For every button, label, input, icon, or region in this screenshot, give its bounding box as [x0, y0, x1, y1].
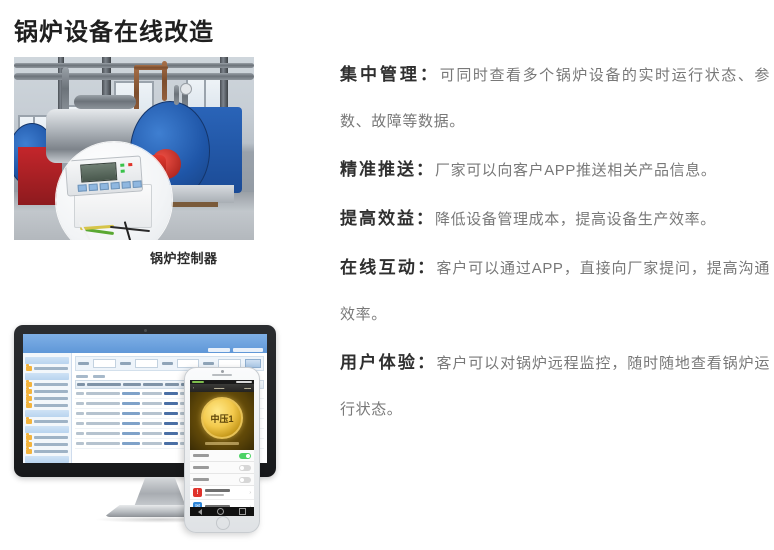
cell [122, 402, 140, 405]
app-nav-bar: ‹ ▬▬▬ ▬▬ [190, 384, 254, 392]
cell [142, 442, 162, 445]
product-feature-page: 锅炉设备在线改造 [0, 0, 774, 535]
back-icon[interactable]: ‹ [193, 386, 194, 390]
toolbar-action[interactable] [93, 375, 105, 378]
cell [122, 412, 140, 415]
settings-icon[interactable]: ▬▬ [244, 386, 251, 390]
filter-label [120, 362, 131, 365]
sidebar-item [26, 449, 68, 454]
cell [164, 432, 178, 435]
sidebar-item [26, 435, 68, 440]
monitor-and-phone-mockup: ‹ ▬▬▬ ▬▬ 中压1 [0, 320, 320, 550]
feature-item: 在线互动：客户可以通过APP，直接向厂家提问，提高沟通效率。 [340, 245, 770, 338]
battery-icon [236, 381, 252, 383]
sidebar-item [26, 419, 68, 424]
photo-caption: 锅炉控制器 [150, 248, 218, 267]
column-header [77, 383, 85, 386]
cell [142, 392, 162, 395]
column-header [87, 383, 121, 386]
media-column: 锅炉控制器 [0, 52, 320, 535]
sidebar-group-header [25, 357, 69, 364]
toggle-label [193, 478, 209, 481]
phone-screen: ‹ ▬▬▬ ▬▬ 中压1 [190, 380, 254, 516]
sidebar-group-header [25, 410, 69, 417]
boiler-skid-base [164, 185, 234, 203]
signal-icon [192, 381, 204, 383]
sidebar-item-label [34, 443, 68, 446]
cell [142, 432, 162, 435]
cell [86, 442, 120, 445]
list-item-title [205, 489, 230, 492]
cell [76, 432, 84, 435]
keypad-button [100, 183, 109, 191]
toolbar-action[interactable] [76, 375, 88, 378]
status-led-green [121, 170, 125, 173]
feature-item: 用户体验：客户可以对锅炉远程监控，随时随地查看锅炉运行状态。 [340, 340, 770, 433]
cell [86, 402, 120, 405]
device-badge: 中压1 [201, 397, 243, 439]
toggle-label [193, 454, 209, 457]
cell [122, 442, 140, 445]
cell [76, 442, 84, 445]
sidebar-item [26, 366, 68, 371]
nav-recents-icon[interactable] [239, 508, 246, 515]
filter-label [162, 362, 173, 365]
toggle-switch-off[interactable] [239, 465, 251, 471]
nav-back-icon[interactable] [198, 509, 202, 515]
sidebar-item-label [34, 436, 68, 439]
status-led-red [128, 163, 132, 166]
features-column: 集中管理：可同时查看多个锅炉设备的实时运行状态、参数、故障等数据。 精准推送：厂… [340, 52, 770, 435]
column-header [123, 383, 141, 386]
toggle-row[interactable] [190, 450, 254, 462]
keypad-button [89, 183, 98, 191]
gauge-stack [174, 85, 179, 105]
wood-skid [170, 202, 218, 207]
dashboard-header-links [208, 348, 263, 352]
feature-body: 降低设备管理成本，提高设备生产效率。 [435, 211, 716, 228]
chevron-right-icon: › [249, 490, 251, 496]
toggle-label [193, 466, 209, 469]
header-chip [208, 348, 230, 352]
keypad-button [78, 184, 87, 192]
column-header [165, 383, 179, 386]
smartphone: ‹ ▬▬▬ ▬▬ 中压1 [184, 367, 260, 533]
cell [164, 442, 178, 445]
feature-body: 厂家可以向客户APP推送相关产品信息。 [435, 162, 716, 179]
cell [142, 402, 162, 405]
toggle-row[interactable] [190, 474, 254, 486]
cell [164, 392, 178, 395]
boiler-room-photo [14, 57, 254, 240]
sidebar-item-label [34, 397, 68, 400]
folder-icon [26, 419, 32, 424]
controller-display [80, 162, 117, 182]
sidebar-group-header [25, 426, 69, 433]
cell [76, 422, 84, 425]
feature-heading: 集中管理： [340, 65, 440, 84]
sidebar-item [26, 403, 68, 408]
cell [142, 422, 162, 425]
folder-icon [26, 449, 32, 454]
gauge-dial [180, 83, 192, 95]
cell [76, 402, 84, 405]
keypad-button [121, 181, 130, 189]
filter-input[interactable] [93, 359, 116, 368]
folder-icon [26, 366, 32, 371]
nav-home-icon[interactable] [217, 508, 224, 515]
phone-camera-icon [221, 370, 224, 373]
header-chip [233, 348, 263, 352]
device-subtitle [205, 442, 239, 445]
brown-pipe [134, 65, 168, 70]
cell [122, 392, 140, 395]
filter-label [78, 362, 89, 365]
list-item[interactable]: ! › [190, 486, 254, 500]
cell [164, 402, 178, 405]
cell [122, 422, 140, 425]
filter-input[interactable] [135, 359, 158, 368]
status-led-green [120, 164, 124, 167]
sidebar-group-header [25, 456, 69, 463]
monitor-camera-icon [144, 329, 147, 332]
sidebar-item [26, 389, 68, 394]
sidebar-item-label [34, 367, 68, 370]
cell [86, 392, 120, 395]
list-item-text [205, 489, 246, 496]
monitor-stand-neck [134, 477, 186, 507]
sidebar-item-label [34, 383, 68, 386]
vertical-pipe [62, 67, 69, 115]
cell [76, 392, 84, 395]
tank-pipe [74, 95, 136, 109]
toggle-switch-off[interactable] [239, 477, 251, 483]
sidebar-item-label [34, 390, 68, 393]
dashboard-sidebar [23, 353, 72, 463]
phone-home-button[interactable] [216, 516, 230, 530]
android-nav-bar [190, 507, 254, 516]
feature-heading: 提高效益： [340, 209, 435, 228]
column-header [143, 383, 163, 386]
app-hero-area: 中压1 [190, 392, 254, 450]
feature-heading: 用户体验： [340, 353, 436, 372]
cell [86, 412, 120, 415]
cell [86, 432, 120, 435]
cell [122, 432, 140, 435]
filter-label [203, 362, 214, 365]
sidebar-group-header [25, 373, 69, 380]
sidebar-item-label [34, 420, 68, 423]
toggle-switch-on[interactable] [239, 453, 251, 459]
feature-heading: 精准推送： [340, 160, 435, 179]
sidebar-item [26, 442, 68, 447]
list-item-subtitle [205, 494, 224, 496]
feature-heading: 在线互动： [340, 258, 436, 277]
sidebar-item-label [34, 404, 68, 407]
cell [142, 412, 162, 415]
cell [76, 412, 84, 415]
keypad-button [132, 180, 141, 188]
alarm-icon: ! [193, 488, 202, 497]
toggle-row[interactable] [190, 462, 254, 474]
controller-faceplate [65, 155, 143, 196]
app-nav-title: ▬▬▬ [214, 386, 224, 390]
page-title: 锅炉设备在线改造 [14, 12, 214, 47]
feature-item: 提高效益：降低设备管理成本，提高设备生产效率。 [340, 196, 770, 243]
feature-item: 精准推送：厂家可以向客户APP推送相关产品信息。 [340, 147, 770, 194]
sidebar-item [26, 396, 68, 401]
cell [164, 412, 178, 415]
feature-item: 集中管理：可同时查看多个锅炉设备的实时运行状态、参数、故障等数据。 [340, 52, 770, 145]
sidebar-item-label [34, 450, 68, 453]
cell [86, 422, 120, 425]
phone-speaker [212, 374, 232, 376]
sidebar-item [26, 382, 68, 387]
dashboard-header [23, 334, 267, 353]
keypad-button [110, 182, 119, 190]
folder-icon [26, 403, 32, 408]
cell [164, 422, 178, 425]
